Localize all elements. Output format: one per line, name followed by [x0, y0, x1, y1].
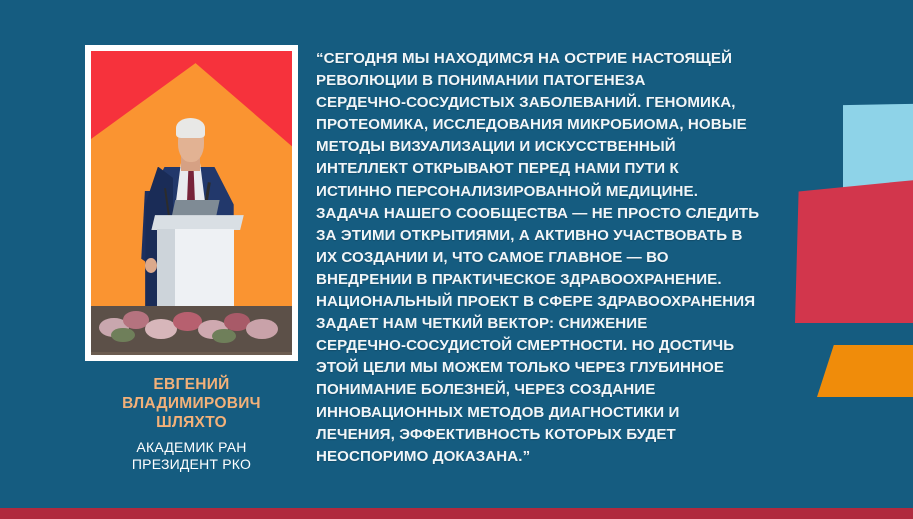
quote-line: НЕОСПОРИМО ДОКАЗАНА.” [316, 446, 864, 468]
quote-line: ЭТОЙ ЦЕЛИ МЫ МОЖЕМ ТОЛЬКО ЧЕРЕЗ ГЛУБИННО… [316, 357, 864, 379]
quote-line: ВНЕДРЕНИИ В ПРАКТИЧЕСКОЕ ЗДРАВООХРАНЕНИЕ… [316, 269, 864, 291]
quote-line: ПРОТЕОМИКА, ИССЛЕДОВАНИЯ МИКРОБИОМА, НОВ… [316, 114, 864, 136]
speaker-role-line-2: ПРЕЗИДЕНТ РКО [132, 456, 251, 472]
speaker-name-line-2: ВЛАДИМИРОВИЧ [122, 395, 261, 412]
speaker-photo [91, 51, 292, 355]
photo-flower-row [91, 306, 292, 355]
quote-line: МЕТОДЫ ВИЗУАЛИЗАЦИИ И ИСКУССТВЕННЫЙ [316, 136, 864, 158]
quote-line: “СЕГОДНЯ МЫ НАХОДИМСЯ НА ОСТРИЕ НАСТОЯЩЕ… [316, 48, 864, 70]
speaker-caption: ЕВГЕНИЙ ВЛАДИМИРОВИЧ ШЛЯХТО АКАДЕМИК РАН… [85, 375, 298, 473]
quote-line: СЕРДЕЧНО-СОСУДИСТЫХ ЗАБОЛЕВАНИЙ. ГЕНОМИК… [316, 92, 864, 114]
quote-line: НАЦИОНАЛЬНЫЙ ПРОЕКТ В СФЕРЕ ЗДРАВООХРАНЕ… [316, 291, 864, 313]
speaker-block: ЕВГЕНИЙ ВЛАДИМИРОВИЧ ШЛЯХТО АКАДЕМИК РАН… [85, 45, 298, 473]
photo-flower-base [91, 352, 292, 355]
speaker-name-line-1: ЕВГЕНИЙ [153, 376, 229, 393]
quote-line: ЛЕЧЕНИЯ, ЭФФЕКТИВНОСТЬ КОТОРЫХ БУДЕТ [316, 424, 864, 446]
slide-canvas: ЕВГЕНИЙ ВЛАДИМИРОВИЧ ШЛЯХТО АКАДЕМИК РАН… [0, 0, 913, 519]
speaker-photo-frame [85, 45, 298, 361]
quote-line: ЗАДАЧА НАШЕГО СООБЩЕСТВА — НЕ ПРОСТО СЛЕ… [316, 203, 864, 225]
speaker-role-line-1: АКАДЕМИК РАН [136, 439, 246, 455]
speaker-name-line-3: ШЛЯХТО [156, 414, 227, 431]
quote-line: ЗА ЭТИМИ ОТКРЫТИЯМИ, А АКТИВНО УЧАСТВОВА… [316, 225, 864, 247]
quote-text: “СЕГОДНЯ МЫ НАХОДИМСЯ НА ОСТРИЕ НАСТОЯЩЕ… [316, 48, 864, 468]
quote-line: СЕРДЕЧНО-СОСУДИСТОЙ СМЕРТНОСТИ. НО ДОСТИ… [316, 335, 864, 357]
quote-line: ИХ СОЗДАНИИ И, ЧТО САМОЕ ГЛАВНОЕ — ВО [316, 247, 864, 269]
quote-line: ЗАДАЕТ НАМ ЧЕТКИЙ ВЕКТОР: СНИЖЕНИЕ [316, 313, 864, 335]
quote-line: ИСТИННО ПЕРСОНАЛИЗИРОВАННОЙ МЕДИЦИНЕ. [316, 181, 864, 203]
quote-line: ИНТЕЛЛЕКТ ОТКРЫВАЮТ ПЕРЕД НАМИ ПУТИ К [316, 158, 864, 180]
quote-line: ПОНИМАНИЕ БОЛЕЗНЕЙ, ЧЕРЕЗ СОЗДАНИЕ [316, 379, 864, 401]
quote-line: ИННОВАЦИОННЫХ МЕТОДОВ ДИАГНОСТИКИ И [316, 402, 864, 424]
speaker-name: ЕВГЕНИЙ ВЛАДИМИРОВИЧ ШЛЯХТО [85, 375, 298, 432]
photo-speaker-hair [176, 118, 205, 138]
quote-line: РЕВОЛЮЦИИ В ПОНИМАНИИ ПАТОГЕНЕЗА [316, 70, 864, 92]
footer-bar [0, 508, 913, 519]
speaker-role: АКАДЕМИК РАН ПРЕЗИДЕНТ РКО [85, 439, 298, 473]
